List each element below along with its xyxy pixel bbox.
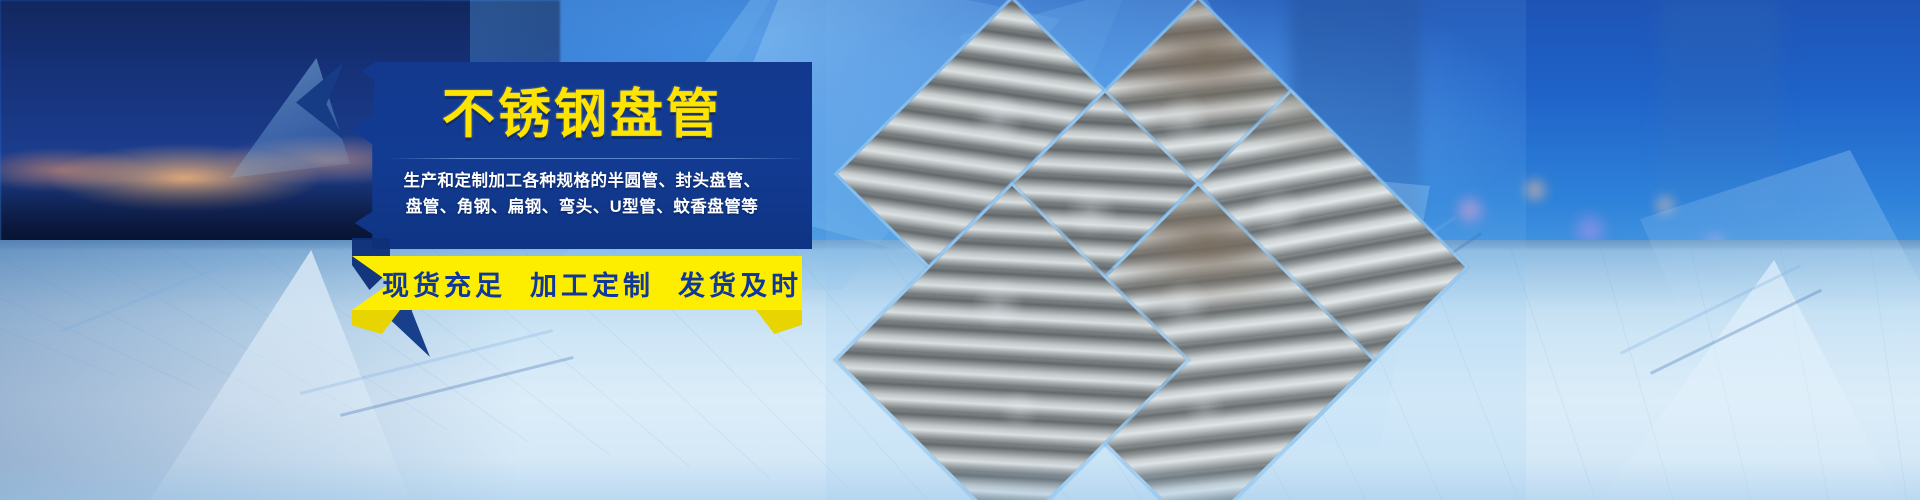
product-photo-collage	[826, 0, 1526, 500]
tag-item-2: 加工定制	[530, 264, 654, 303]
tag-item-1: 现货充足	[382, 264, 506, 303]
banner-title: 不锈钢盘管	[352, 88, 812, 141]
banner-subtitle: 生产和定制加工各种规格的半圆管、封头盘管、 盘管、角钢、扁钢、弯头、U型管、蚊香…	[352, 168, 812, 220]
subtitle-line-1: 生产和定制加工各种规格的半圆管、封头盘管、	[352, 168, 812, 194]
ribbon-divider	[386, 158, 806, 159]
tag-item-3: 发货及时	[678, 264, 802, 303]
banner-stage: 不锈钢盘管 生产和定制加工各种规格的半圆管、封头盘管、 盘管、角钢、扁钢、弯头、…	[0, 0, 1920, 500]
highlight-tag-list: 现货充足 加工定制 发货及时	[352, 256, 802, 310]
bottom-fade	[0, 460, 1920, 500]
subtitle-line-2: 盘管、角钢、扁钢、弯头、U型管、蚊香盘管等	[352, 194, 812, 220]
